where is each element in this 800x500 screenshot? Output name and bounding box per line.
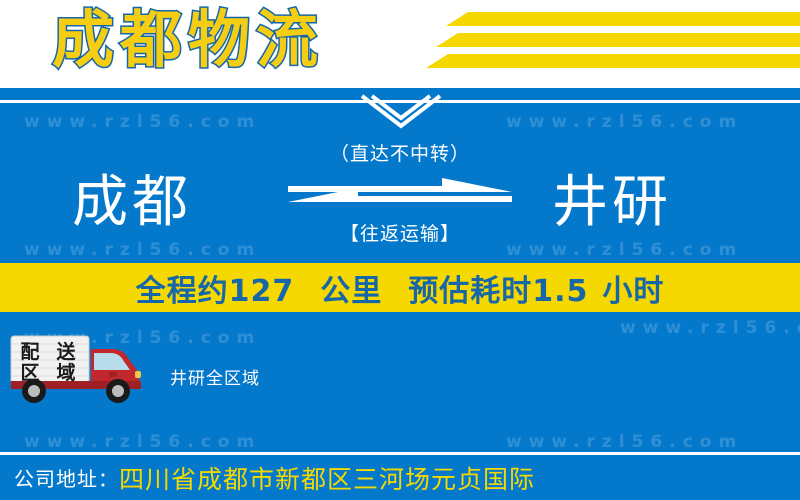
address-label: 公司地址： <box>14 463 119 492</box>
decorative-stripes <box>420 6 800 78</box>
address-bar: 公司地址： 四川省成都市新都区三河场元贞国际 <box>0 455 800 500</box>
info-bar: 全程约127 公里 预估耗时1.5 小时 <box>0 263 800 312</box>
distance-unit: 公里 <box>320 266 382 310</box>
truck-char-1: 送 <box>56 340 76 363</box>
page-title: 成都物流 <box>52 4 324 76</box>
distance-value: 全程约127 <box>136 266 295 310</box>
truck-char-3: 域 <box>56 361 75 384</box>
duration-unit: 小时 <box>602 266 664 310</box>
direct-shipping-note: （直达不中转） <box>292 142 508 166</box>
bidirectional-arrow-icon <box>288 176 512 218</box>
destination-city: 井研 <box>552 172 672 234</box>
chevron-down-icon <box>356 94 446 132</box>
banner-header: 成都物流 <box>0 0 800 88</box>
truck-char-2: 区 <box>20 362 39 384</box>
truck-char-0: 配 <box>20 341 39 363</box>
logistics-banner: 成都物流 www.rzl56.com www.rzl56.com www.rzl… <box>0 0 800 500</box>
delivery-area-text: 井研全区域 <box>170 368 260 390</box>
address-value: 四川省成都市新都区三河场元贞国际 <box>119 460 535 496</box>
delivery-truck-icon: 配 送 区 域 <box>8 331 154 405</box>
origin-city: 成都 <box>72 172 192 234</box>
duration-value: 预估耗时1.5 <box>408 266 588 310</box>
roundtrip-note: 【往返运输】 <box>292 222 508 246</box>
